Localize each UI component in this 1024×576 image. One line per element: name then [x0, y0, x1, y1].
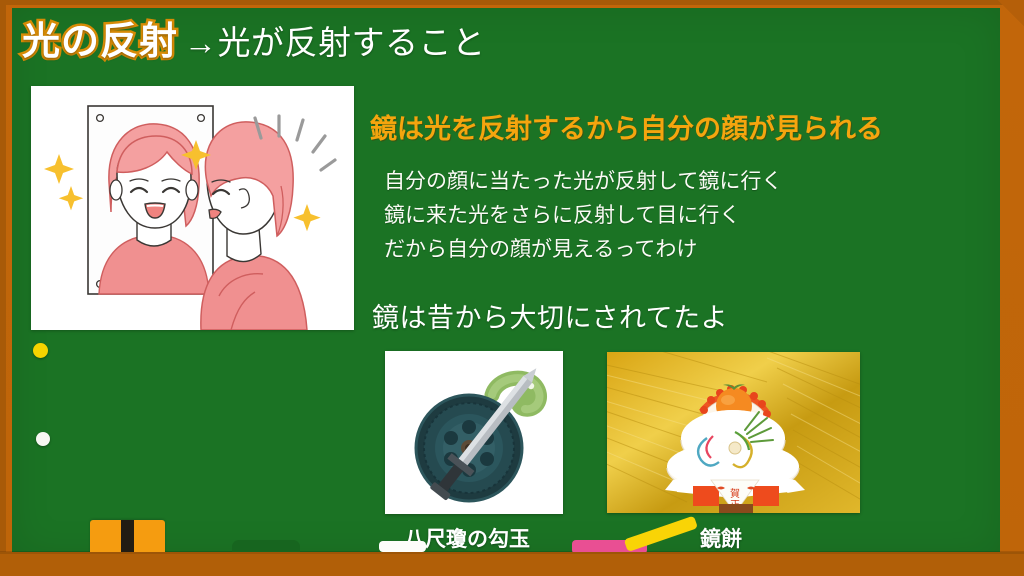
bronze-mirror-sword-magatama-image [385, 351, 563, 514]
eraser-orange-icon[interactable] [90, 520, 165, 554]
magnet-yellow-icon [33, 343, 48, 358]
explanation-line-2: 鏡に来た光をさらに反射して目に行く [384, 198, 944, 232]
explanation-lines: 自分の顔に当たった光が反射して鏡に行く 鏡に来た光をさらに反射して目に行く だか… [384, 164, 944, 266]
page-title: 光の反射 →光が反射すること [22, 10, 922, 66]
chalk-ledge [0, 552, 1024, 576]
explanation-line-1: 自分の顔に当たった光が反射して鏡に行く [384, 164, 944, 198]
title-term: 光の反射 [22, 10, 178, 65]
section-headline: 鏡は光を反射するから自分の顔が見られる [370, 107, 883, 146]
three-sacred-treasures-photo-card [385, 351, 563, 514]
eraser-band [121, 520, 134, 554]
slide-chalkboard: 光の反射 →光が反射すること [0, 0, 1024, 576]
board-frame-left-edge [0, 0, 6, 576]
person-looking-in-mirror-illustration [31, 86, 354, 330]
chalk-white-icon[interactable] [379, 541, 426, 552]
mirror-illustration-card [31, 86, 354, 330]
section-subheading: 鏡は昔から大切にされてたよ [372, 296, 728, 335]
caption-kagami-mochi: 鏡餅 [700, 523, 742, 553]
board-frame-corner-bevel [998, 0, 1024, 26]
mochi-paper-label: 賀 [730, 488, 740, 500]
title-definition: →光が反射すること [184, 16, 486, 64]
kagami-mochi-image: 賀 正 [607, 352, 860, 513]
explanation-line-3: だから自分の顔が見えるってわけ [384, 232, 944, 266]
kagami-mochi-photo-card: 賀 正 [607, 352, 860, 513]
board-frame-top-edge [0, 0, 1024, 5]
magnet-white-icon [36, 432, 50, 446]
